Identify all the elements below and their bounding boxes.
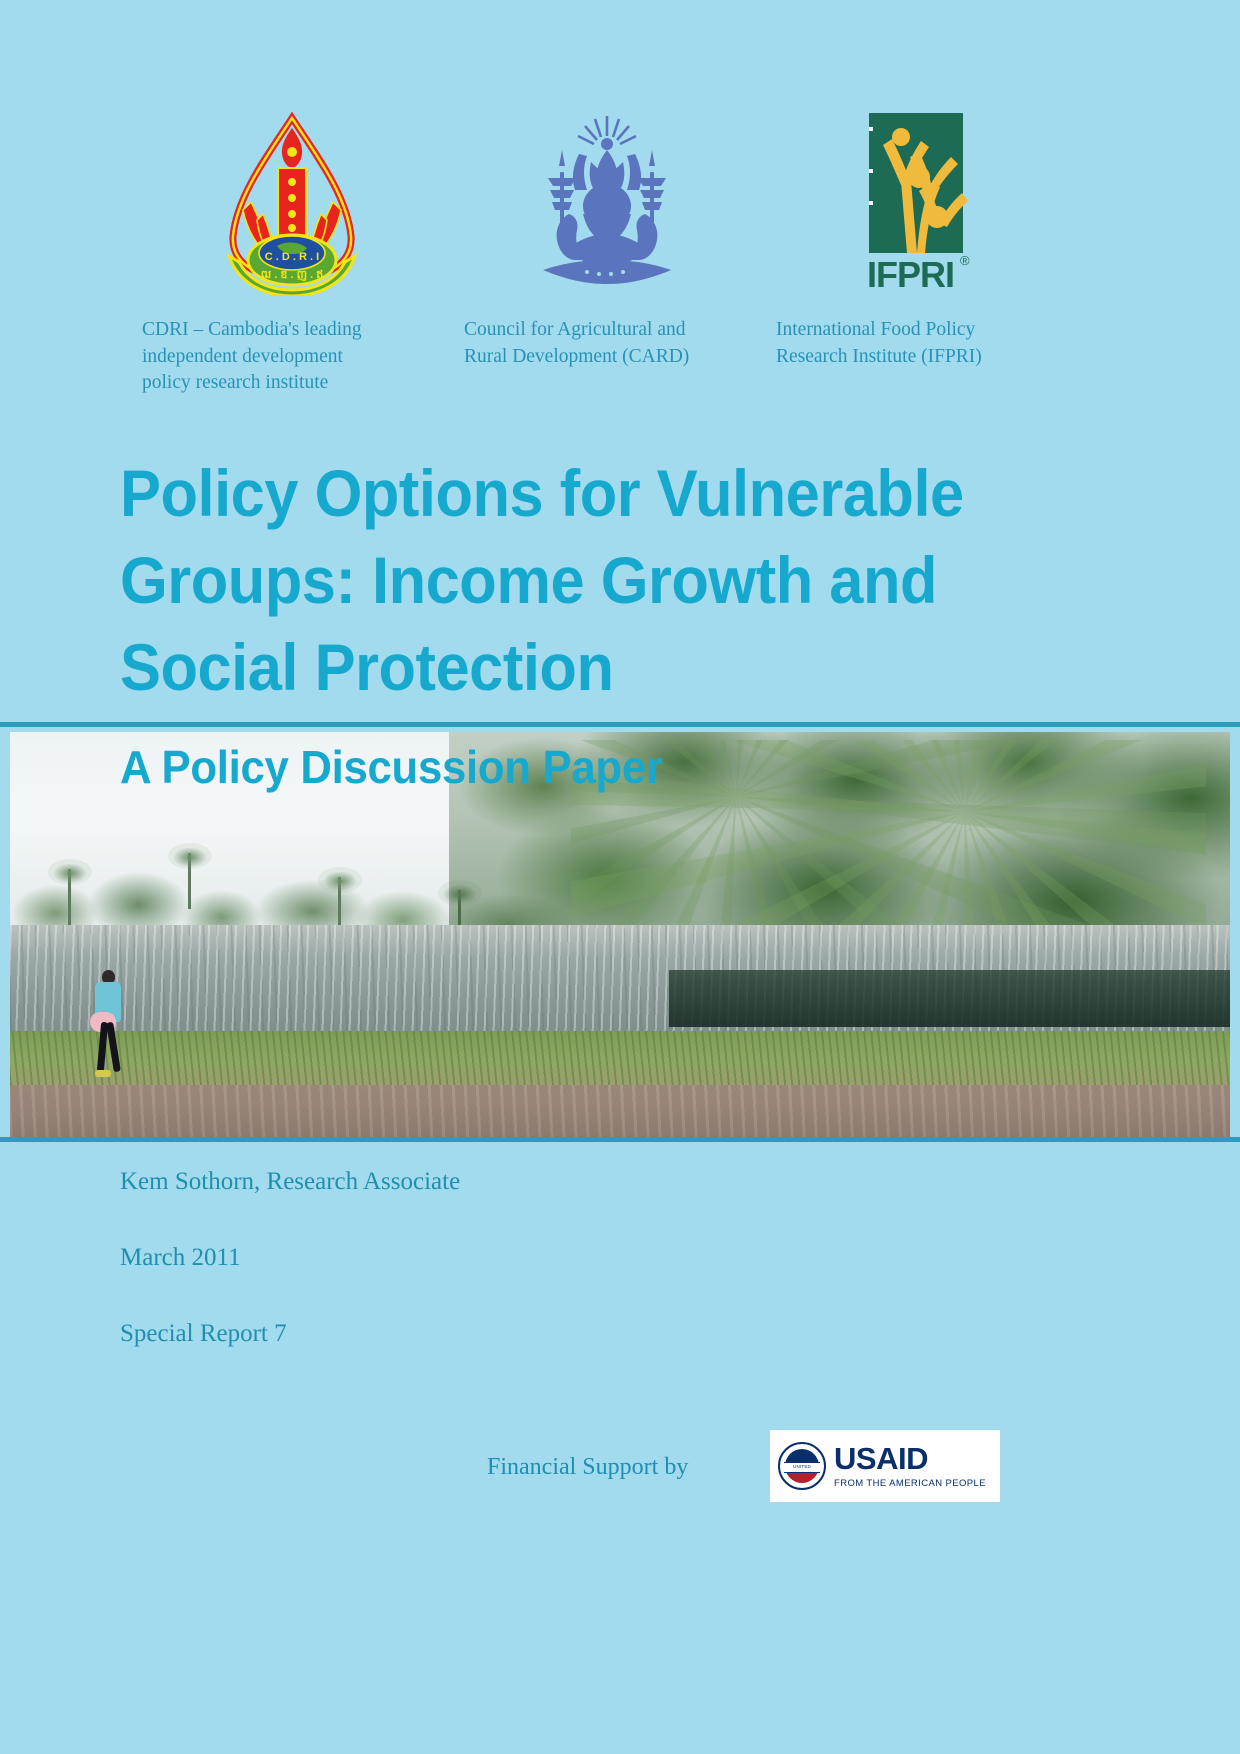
title-line-3: Social Protection <box>120 624 1013 711</box>
ifpri-logo-icon: IFPRI ® <box>776 100 1076 295</box>
usaid-seal-band-text: UNITED STATES AGENCY <box>784 1462 820 1473</box>
svg-text:®: ® <box>960 253 970 268</box>
logo-caption-cdri: CDRI – Cambodia's leading independent de… <box>142 317 392 397</box>
photo-far-bank <box>669 970 1230 1027</box>
page-subtitle: A Policy Discussion Paper <box>120 740 663 795</box>
svg-text:ឍ . ឌ . ញ . ឥ: ឍ . ឌ . ញ . ឥ <box>261 269 323 281</box>
logo-caption-card: Council for Agricultural and Rural Devel… <box>464 317 726 370</box>
caption-line: International Food Policy <box>776 317 1026 344</box>
cover-metadata: Kem Sothorn, Research Associate March 20… <box>120 1168 740 1396</box>
logo-caption-ifpri: International Food Policy Research Insti… <box>776 317 1026 370</box>
cdri-emblem-icon: C . D . R . I ឍ . ឌ . ញ . ឥ <box>142 100 442 295</box>
logo-block-card: Council for Agricultural and Rural Devel… <box>462 100 752 370</box>
caption-line: Research Institute (IFPRI) <box>776 344 1026 371</box>
photo-palm-tree <box>310 863 370 933</box>
date-line: March 2011 <box>120 1244 740 1272</box>
usaid-logo: UNITED STATES AGENCY USAID FROM THE AMER… <box>770 1430 1000 1502</box>
photo-palm-fronds <box>571 740 1205 929</box>
document-cover-page: C . D . R . I ឍ . ឌ . ញ . ឥ CDRI – Cambo… <box>0 0 1240 1754</box>
svg-text:IFPRI: IFPRI <box>867 254 954 295</box>
title-line-1: Policy Options for Vulnerable <box>120 450 1013 537</box>
caption-line: independent development <box>142 344 392 371</box>
photo-grass-strip <box>10 1031 1230 1084</box>
caption-line: policy research institute <box>142 370 392 397</box>
caption-line: Council for Agricultural and <box>464 317 726 344</box>
usaid-wordmark: USAID <box>834 1443 986 1474</box>
usaid-tagline: FROM THE AMERICAN PEOPLE <box>834 1478 986 1489</box>
cambodia-royal-emblem-icon <box>462 100 752 295</box>
svg-text:C . D . R . I: C . D . R . I <box>265 251 319 263</box>
funding-footer: Financial Support by UNITED STATES AGENC… <box>0 1430 1240 1520</box>
photo-walking-woman <box>88 970 134 1090</box>
caption-line: Rural Development (CARD) <box>464 344 726 371</box>
caption-line: CDRI – Cambodia's leading <box>142 317 392 344</box>
logo-block-cdri: C . D . R . I ឍ . ឌ . ញ . ឥ CDRI – Cambo… <box>142 100 442 397</box>
logo-block-ifpri: IFPRI ® International Food Policy Resear… <box>776 100 1076 370</box>
photo-dirt-road <box>10 1085 1230 1142</box>
photo-palm-tree <box>40 855 100 925</box>
author-line: Kem Sothorn, Research Associate <box>120 1168 740 1196</box>
title-line-2: Groups: Income Growth and <box>120 537 1013 624</box>
report-number-line: Special Report 7 <box>120 1320 740 1348</box>
usaid-seal-icon: UNITED STATES AGENCY <box>778 1442 826 1490</box>
funding-label: Financial Support by <box>487 1454 688 1481</box>
photo-palm-tree <box>160 839 220 909</box>
page-title: Policy Options for Vulnerable Groups: In… <box>120 450 1080 711</box>
logo-strip: C . D . R . I ឍ . ឌ . ញ . ឥ CDRI – Cambo… <box>0 100 1240 400</box>
